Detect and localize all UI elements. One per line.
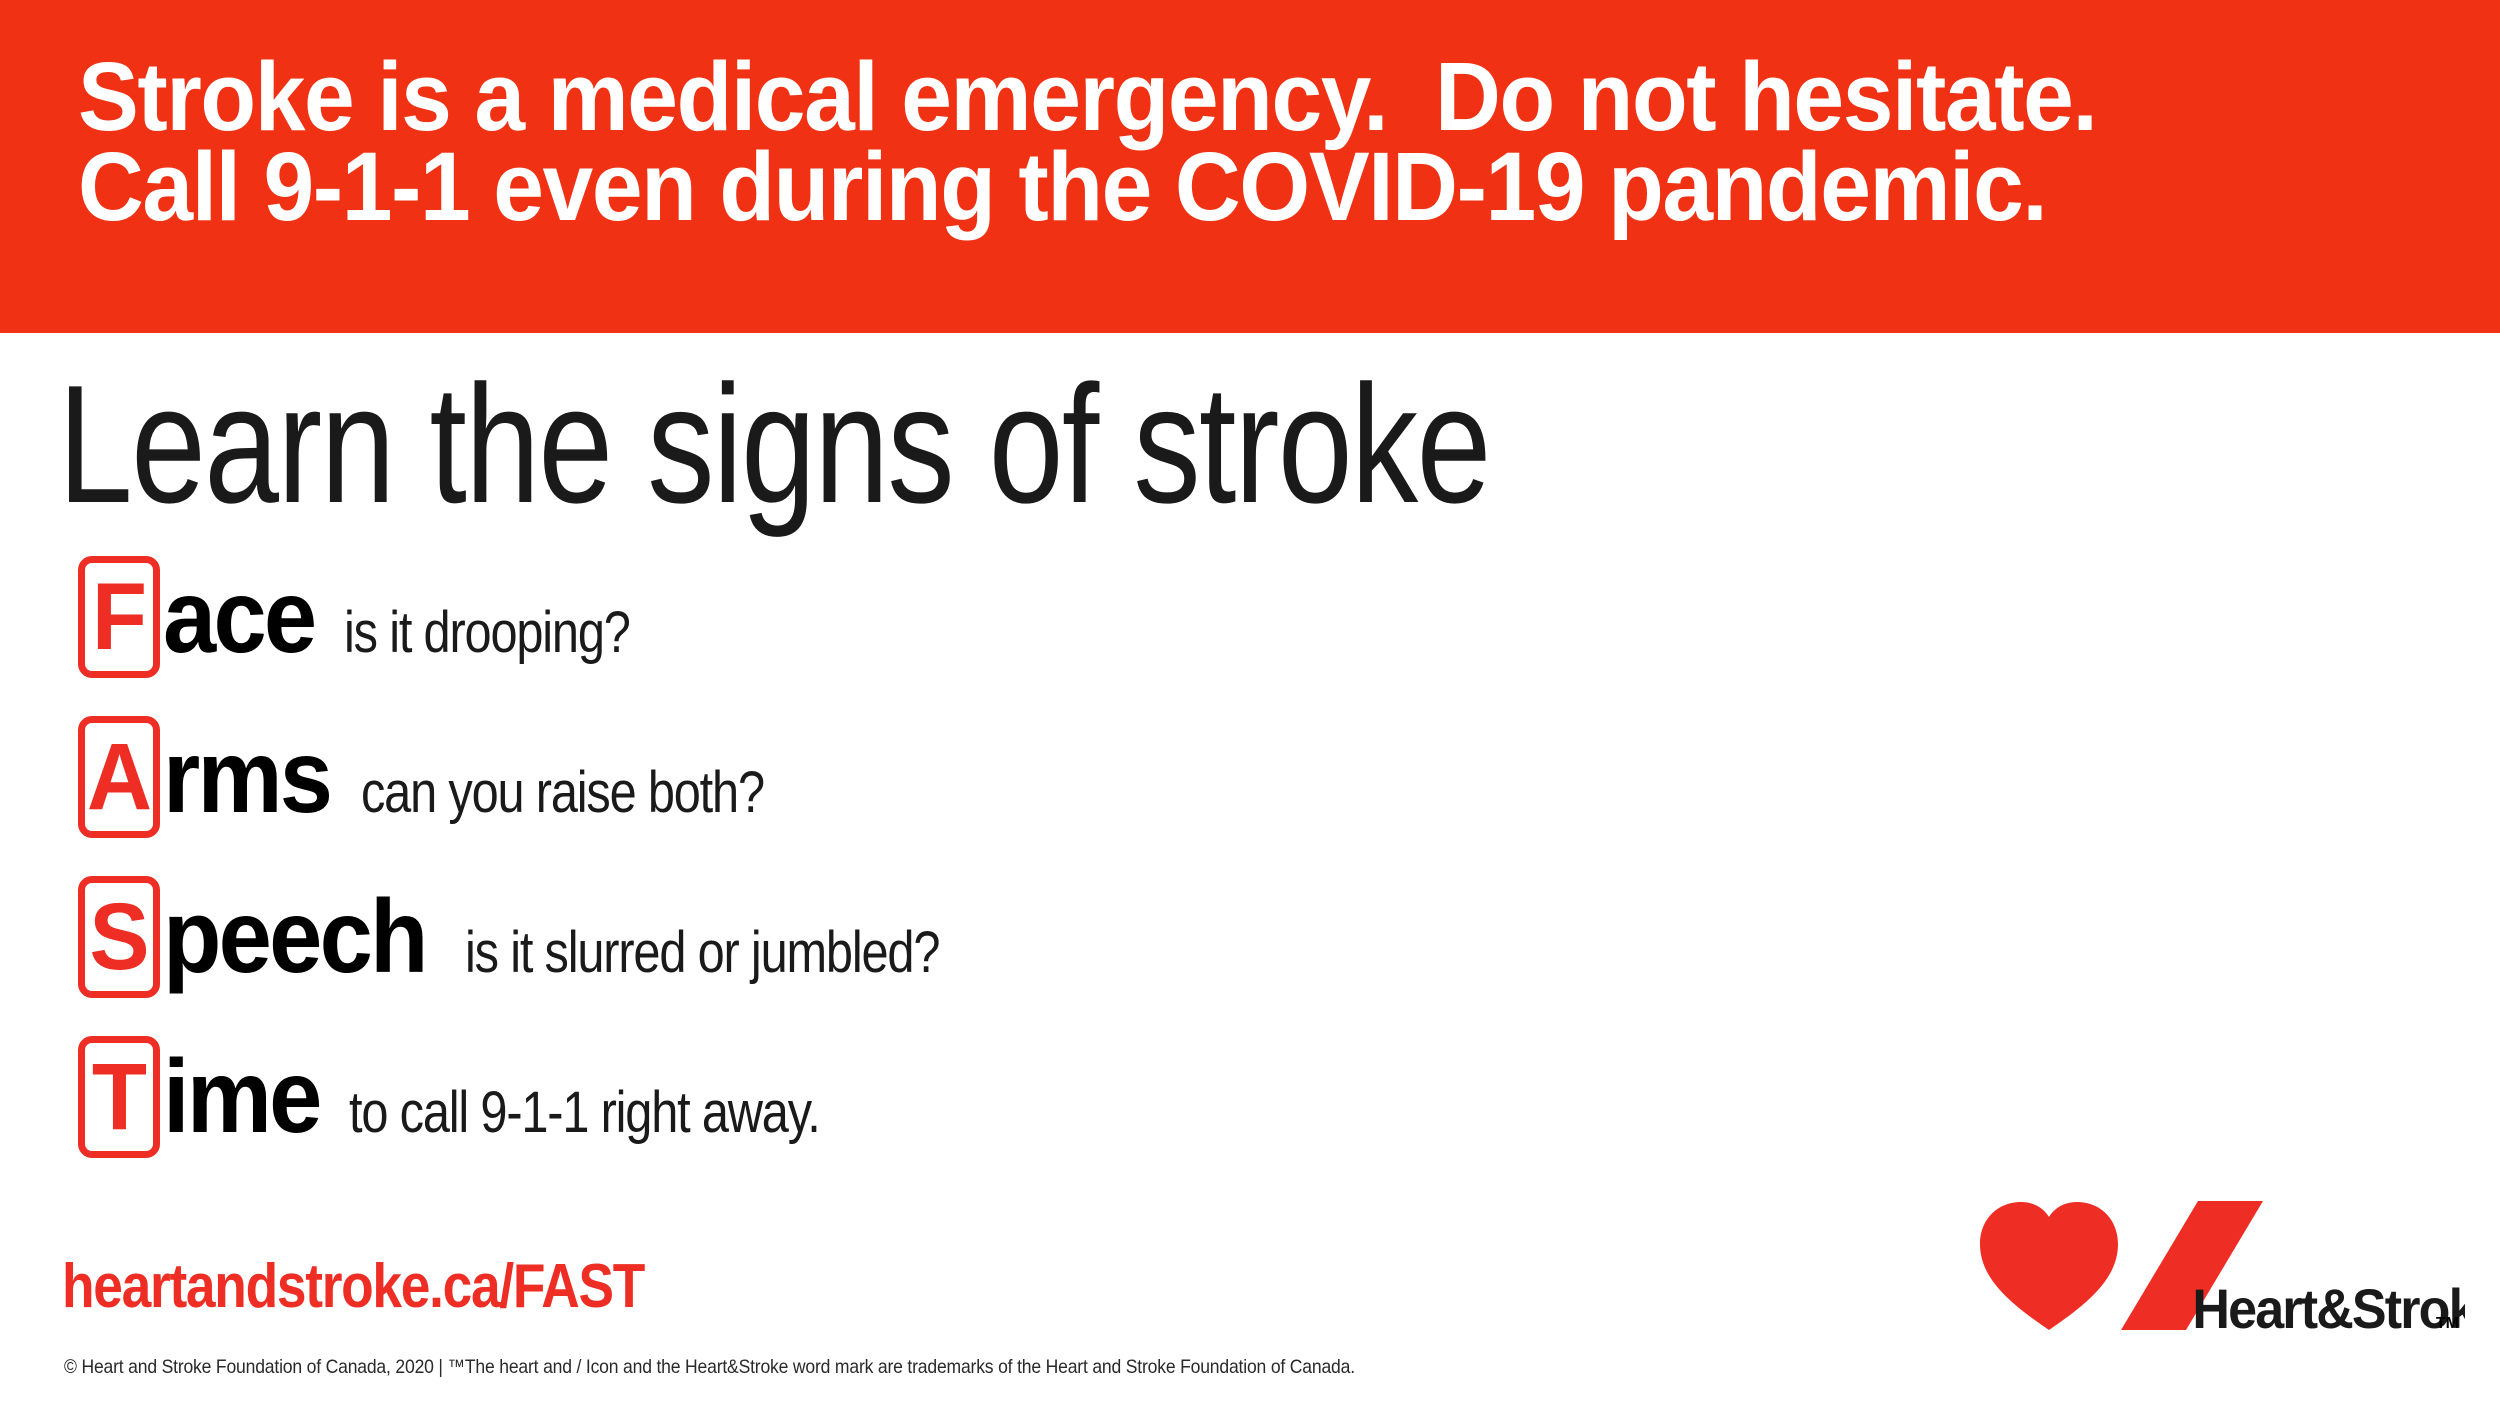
- fast-desc-speech: is it slurred or jumbled?: [465, 892, 939, 1014]
- fast-row-arms: A rms can you raise both?: [0, 716, 2500, 876]
- fast-letter-s: S: [87, 883, 152, 991]
- alert-banner-text: Stroke is a medical emergency. Do not he…: [78, 52, 2240, 232]
- fast-word-face: ace: [163, 556, 314, 678]
- page-title: Learn the signs of stroke: [58, 360, 1490, 528]
- fast-letter-box-s: S: [78, 876, 160, 998]
- svg-text:Heart&Stroke: Heart&Stroke: [2192, 1278, 2465, 1340]
- fast-row-face: F ace is it drooping?: [0, 556, 2500, 716]
- fast-letter-t: T: [87, 1043, 152, 1151]
- fast-word-arms: rms: [163, 716, 330, 838]
- heart-icon: [1980, 1202, 2118, 1330]
- fast-text-arms: rms can you raise both?: [163, 716, 840, 838]
- fast-letter-box-t: T: [78, 1036, 160, 1158]
- fast-text-speech: peech is it slurred or jumbled?: [163, 876, 1029, 998]
- fast-desc-arms: can you raise both?: [361, 732, 764, 854]
- fast-text-face: ace is it drooping?: [163, 556, 684, 678]
- fast-desc-face: is it drooping?: [344, 572, 630, 694]
- fast-acronym-list: F ace is it drooping? A rms can you rais…: [0, 556, 2500, 1196]
- fast-letter-box-a: A: [78, 716, 160, 838]
- fast-desc-time: to call 9-1-1 right away.: [349, 1052, 820, 1174]
- fast-word-speech: peech: [163, 876, 426, 998]
- copyright-legal-text: © Heart and Stroke Foundation of Canada,…: [64, 1356, 1355, 1378]
- alert-line-1: Stroke is a medical emergency. Do not he…: [78, 52, 2240, 142]
- fast-text-time: ime to call 9-1-1 right away.: [163, 1036, 910, 1158]
- trademark-symbol: TM: [2436, 1315, 2459, 1333]
- stroke-awareness-poster: Stroke is a medical emergency. Do not he…: [0, 0, 2500, 1407]
- alert-line-2: Call 9-1-1 even during the COVID-19 pand…: [78, 142, 2240, 232]
- fast-letter-f: F: [87, 563, 152, 671]
- fast-word-time: ime: [163, 1036, 320, 1158]
- fast-row-time: T ime to call 9-1-1 right away.: [0, 1036, 2500, 1196]
- heart-and-stroke-logo: Heart&Stroke TM: [1945, 1175, 2465, 1355]
- fast-letter-box-f: F: [78, 556, 160, 678]
- fast-letter-a: A: [87, 723, 152, 831]
- alert-banner: Stroke is a medical emergency. Do not he…: [0, 0, 2500, 333]
- logo-wordmark: Heart&Stroke: [2192, 1278, 2465, 1340]
- fast-row-speech: S peech is it slurred or jumbled?: [0, 876, 2500, 1036]
- website-url-link[interactable]: heartandstroke.ca/FAST: [62, 1256, 644, 1318]
